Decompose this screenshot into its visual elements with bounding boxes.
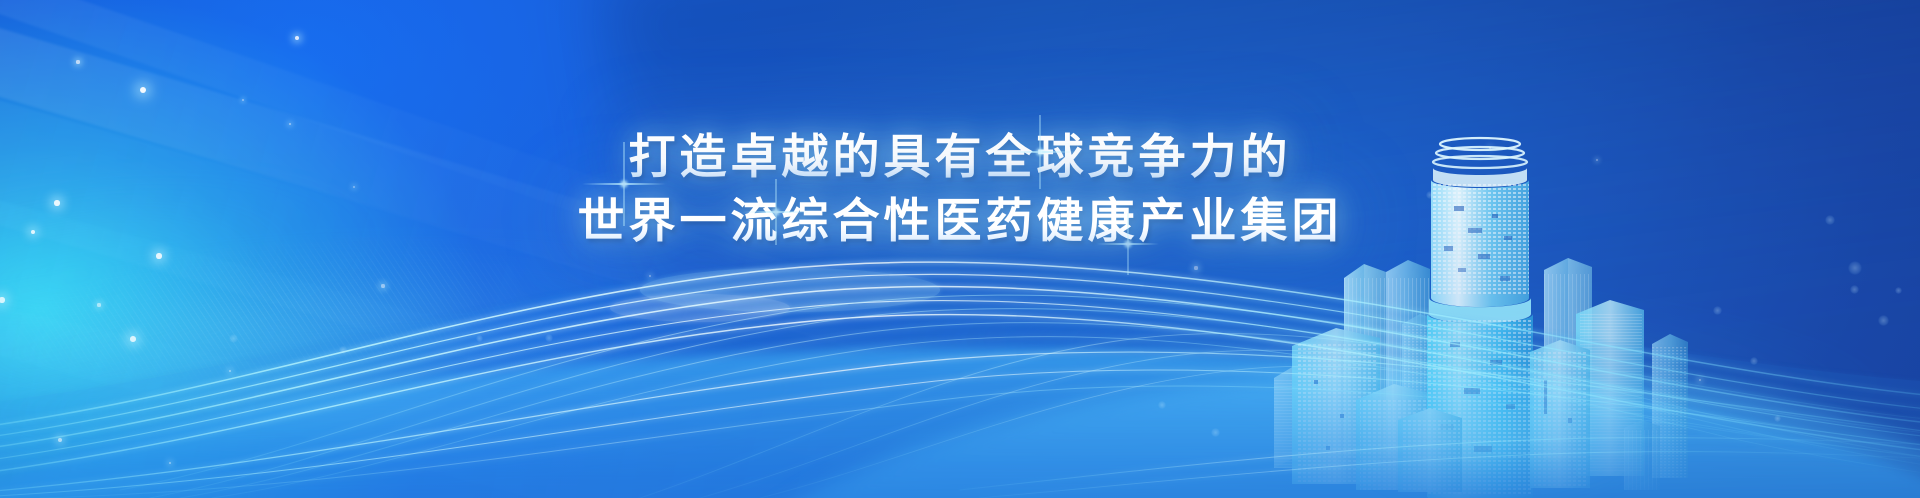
sparkle-dot — [1194, 266, 1197, 269]
bokeh-circle — [339, 346, 347, 354]
building-right-tall — [1544, 258, 1592, 460]
headline-line-2: 世界一流综合性医药健康产业集团 — [0, 190, 1920, 254]
city-skyline-graphic — [1268, 128, 1738, 498]
lens-flare-core — [1123, 239, 1133, 249]
lens-flare — [582, 142, 666, 226]
wave-sheet — [0, 279, 1143, 498]
bokeh-circle — [1426, 191, 1434, 199]
bokeh-circle — [476, 335, 483, 342]
building-front-centre — [1530, 340, 1590, 488]
wave-sheet — [0, 59, 714, 442]
sparkle-dot — [156, 253, 161, 258]
bokeh-circle — [1825, 215, 1835, 225]
sparkle-dot — [76, 60, 79, 63]
building-far-right — [1624, 420, 1660, 490]
bokeh-circle — [545, 334, 553, 342]
sparkle-dot — [31, 230, 36, 235]
sparkle-dot — [381, 284, 384, 287]
light-ray — [0, 0, 936, 332]
light-rays-decoration — [0, 0, 1920, 498]
sparkle-dot — [353, 186, 356, 189]
sparkle-dot — [1699, 379, 1702, 382]
headline-line-1: 打造卓越的具有全球竞争力的 — [0, 126, 1920, 190]
water-plane — [0, 348, 1920, 498]
sparkle-dot — [1489, 147, 1492, 150]
sparkle-dot — [130, 336, 136, 342]
bokeh-circle — [1211, 428, 1220, 437]
lens-flare — [1097, 213, 1159, 275]
wave-sheet — [0, 151, 1266, 478]
building-left-block — [1292, 328, 1380, 484]
sparkle-dot — [649, 275, 652, 278]
hatch-texture — [0, 177, 707, 428]
light-ray — [0, 236, 930, 498]
bokeh-circle — [229, 334, 238, 343]
lens-flare — [1003, 115, 1077, 189]
light-ray — [0, 26, 1105, 498]
building-right-slim — [1652, 334, 1688, 478]
headline-block: 打造卓越的具有全球竞争力的 世界一流综合性医药健康产业集团 — [0, 126, 1920, 254]
sparkle-dot — [140, 87, 146, 93]
sparkle-dot — [58, 438, 62, 442]
bokeh-circle — [1750, 357, 1758, 365]
lens-flare-core — [1035, 147, 1045, 157]
bokeh-circle — [1774, 415, 1781, 422]
bokeh-circle — [1878, 315, 1889, 326]
sparkle-dot — [54, 200, 59, 205]
sparkle-dot — [229, 370, 232, 373]
sparkle-dot — [1596, 159, 1598, 161]
bokeh-circle — [1848, 261, 1862, 275]
lens-flare-core — [771, 207, 781, 217]
building-far-left — [1274, 366, 1326, 468]
bokeh-circle — [1895, 287, 1902, 294]
sparkle-dot — [0, 297, 5, 302]
wave-sheet — [755, 217, 1920, 498]
lens-flare — [743, 179, 809, 245]
wave-ribbons-graphic — [0, 198, 1920, 498]
building-small-left — [1402, 314, 1442, 458]
bokeh-circle — [1850, 285, 1859, 294]
building-right-stepped — [1576, 300, 1644, 476]
sparkle-dot — [295, 36, 299, 40]
sparkle-dot — [242, 99, 244, 101]
sparkle-dot — [289, 123, 292, 126]
sparkle-dot — [97, 303, 100, 306]
skyline-glow — [1300, 298, 1700, 488]
light-ray — [0, 120, 1033, 498]
hero-banner: 打造卓越的具有全球竞争力的 世界一流综合性医药健康产业集团 — [0, 0, 1920, 498]
lens-flare-core — [619, 179, 629, 189]
building-front-left — [1398, 408, 1462, 492]
water-plane-highlight — [700, 368, 1920, 498]
bokeh-circle — [1713, 306, 1722, 315]
central-tower — [1427, 138, 1533, 498]
building-left-tall — [1344, 260, 1430, 458]
bokeh-circle — [1158, 401, 1166, 409]
light-ray — [0, 0, 1208, 449]
sparkle-dot — [169, 462, 172, 465]
shadow-wedge — [596, 0, 1920, 450]
building-mid-front — [1356, 384, 1432, 490]
